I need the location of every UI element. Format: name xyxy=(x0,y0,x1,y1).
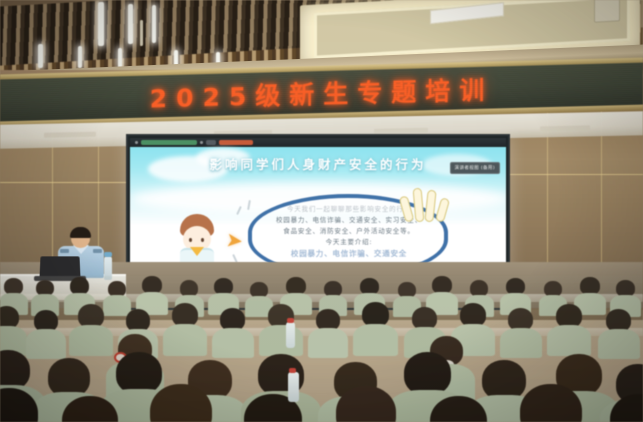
ceiling-tube-light-6 xyxy=(118,48,122,68)
toolbar-gear-icon[interactable] xyxy=(200,141,203,144)
slide-body-line-4: 校园暴力、电信诈骗、交通安全 xyxy=(258,248,440,259)
audience-head xyxy=(116,352,162,394)
audience-head xyxy=(610,394,643,422)
slide-corner-badge[interactable]: 演讲者视图 (备用) xyxy=(450,162,500,174)
presenter-hair xyxy=(70,227,91,238)
cartoon-eye-right xyxy=(201,238,204,242)
audience-water-bottle xyxy=(288,372,299,402)
audience-torso xyxy=(308,328,348,358)
presenter-epaulette-left xyxy=(60,249,69,253)
audience-torso xyxy=(212,328,254,358)
wall-vent-1 xyxy=(44,132,96,138)
hand-finger-2 xyxy=(413,188,425,223)
toolbar-misc-pill xyxy=(206,140,216,145)
toolbar-icon-dot xyxy=(135,141,138,144)
audience-torso xyxy=(259,325,303,356)
audience-torso xyxy=(500,328,542,358)
presenter-bottle-cap xyxy=(104,252,112,257)
ceiling-tube-light-1 xyxy=(98,2,104,46)
slide-hand-illustration xyxy=(400,186,454,236)
slide-app-toolbar[interactable] xyxy=(130,138,506,147)
wall-seam-right-3 xyxy=(505,174,643,175)
audience-head xyxy=(482,360,526,400)
audience-torso xyxy=(26,329,66,359)
wall-vent-4 xyxy=(540,125,590,131)
audience-torso xyxy=(598,329,640,359)
ceiling-tube-light-5 xyxy=(78,46,82,68)
ceiling-tube-light-4 xyxy=(38,44,43,68)
hand-finger-1 xyxy=(399,195,415,222)
wall-seam-left-3 xyxy=(0,182,140,183)
audience-head xyxy=(404,352,451,395)
audience-water-bottle xyxy=(286,322,295,348)
audience-head xyxy=(336,386,396,422)
presenter-laptop xyxy=(39,256,80,278)
audience-torso xyxy=(163,324,207,356)
audience-torso xyxy=(69,325,113,356)
ceiling-tube-light-3 xyxy=(152,5,156,43)
toolbar-status-pill xyxy=(141,140,197,145)
audience-torso xyxy=(103,295,131,316)
audience-torso xyxy=(547,325,591,356)
wall-vent-3 xyxy=(374,128,428,134)
audience xyxy=(0,276,643,422)
hand-finger-4 xyxy=(435,197,450,223)
presenter-epaulette-right xyxy=(93,249,102,253)
toolbar-record-button[interactable] xyxy=(219,140,253,145)
slide-body-line-3: 今天主要介绍: xyxy=(258,237,440,248)
ceiling-speaker-box xyxy=(594,0,620,23)
audience-torso xyxy=(353,324,398,356)
cartoon-eye-left xyxy=(189,238,192,242)
slide-arrow-icon: ➤ xyxy=(225,227,244,253)
lecture-hall-photo: 2025级新生专题培训 影响同学们人身财产安全的行为 演讲者视图 (备用) xyxy=(0,0,643,422)
ceiling-tube-light-2 xyxy=(128,4,133,44)
ceiling-sprinkler-pipe xyxy=(140,20,143,46)
